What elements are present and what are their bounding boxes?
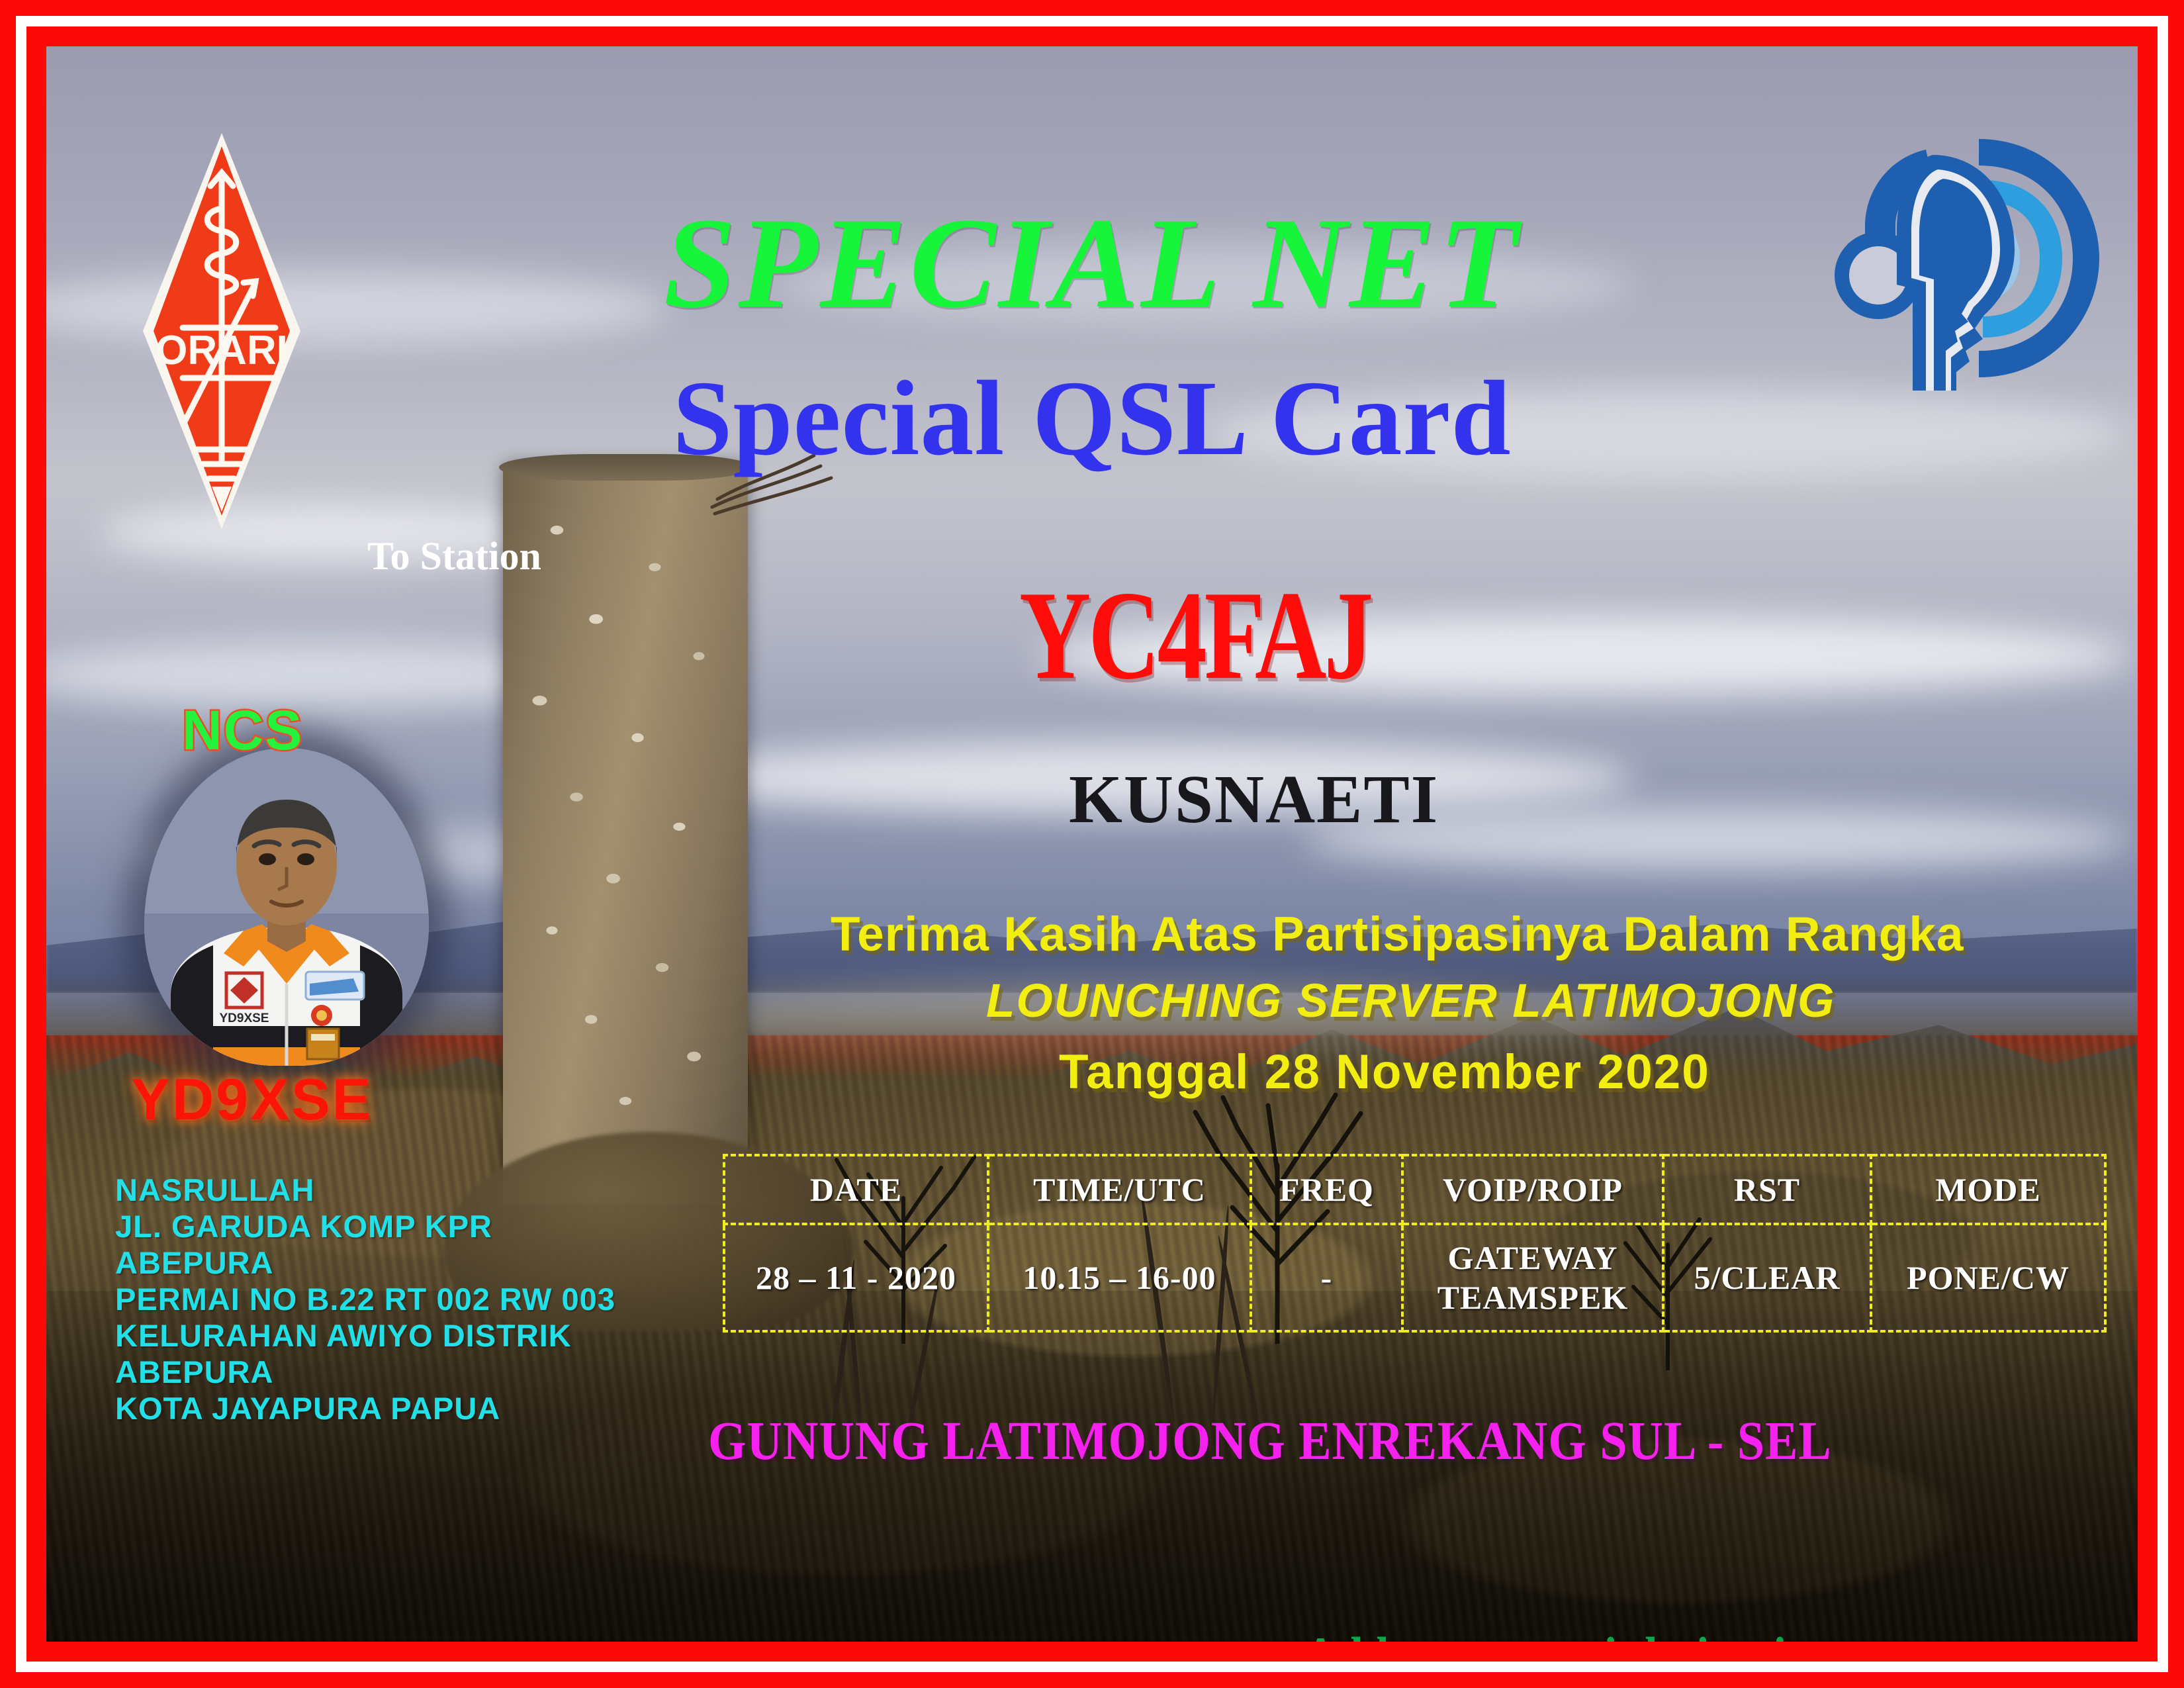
thanks-line-3: Tanggal 28 November 2020 <box>1059 1045 1710 1100</box>
cell-rst: 5/CLEAR <box>1663 1224 1871 1331</box>
operator-name: KUSNAETI <box>1069 760 1439 839</box>
thanks-line-1: Terima Kasih Atas Partisipasinya Dalam R… <box>831 907 1964 962</box>
address-line: KOTA JAYAPURA PAPUA <box>115 1390 615 1427</box>
ncs-label: NCS <box>182 698 303 763</box>
motto-text: "AMATIR RADIO ADALAH PROGRESIVE" <box>126 1628 1087 1642</box>
ncs-callsign: YD9XSE <box>131 1066 373 1133</box>
cell-mode: PONE/CW <box>1871 1224 2105 1331</box>
address-line: JL. GARUDA KOMP KPR <box>115 1208 615 1244</box>
column-header-date: DATE <box>724 1155 988 1224</box>
thanks-line-2: LOUNCHING SERVER LATIMOJONG <box>986 974 1835 1028</box>
station-callsign: YC4FAJ <box>1019 563 1371 708</box>
column-header-freq: FREQ <box>1251 1155 1402 1224</box>
column-header-rst: RST <box>1663 1155 1871 1224</box>
cell-time: 10.15 – 16-00 <box>988 1224 1251 1331</box>
table-row: 28 – 11 - 2020 10.15 – 16-00 - GATEWAY T… <box>724 1224 2105 1331</box>
location-line: GUNUNG LATIMOJONG ENREKANG SUL - SEL <box>708 1410 1832 1473</box>
column-header-time: TIME/UTC <box>988 1155 1251 1224</box>
cell-voip: GATEWAY TEAMSPEK <box>1402 1224 1663 1331</box>
address-line: PERMAI NO B.22 RT 002 RW 003 <box>115 1281 615 1317</box>
address-line: KELURAHAN AWIYO DISTRIK <box>115 1317 615 1354</box>
to-station-label: To Station <box>367 534 541 579</box>
avatar: YD9XSE <box>144 748 429 1066</box>
qsl-card: ORARI <box>0 0 2184 1688</box>
table-header-row: DATE TIME/UTC FREQ VOIP/ROIP RST MODE <box>724 1155 2105 1224</box>
address-line: NASRULLAH <box>115 1172 615 1208</box>
qso-log-table: DATE TIME/UTC FREQ VOIP/ROIP RST MODE 28… <box>723 1154 2107 1333</box>
column-header-mode: MODE <box>1871 1155 2105 1224</box>
address-line: ABEPURA <box>115 1354 615 1390</box>
cell-freq: - <box>1251 1224 1402 1331</box>
column-header-voip: VOIP/ROIP <box>1402 1155 1663 1224</box>
card-photo-area: ORARI <box>46 46 2138 1642</box>
address-line: ABEPURA <box>115 1244 615 1281</box>
cell-date: 28 – 11 - 2020 <box>724 1224 988 1331</box>
page-title: SPECIAL NET <box>46 189 2138 338</box>
ncs-operator-photo: YD9XSE <box>144 748 429 1066</box>
card-subtitle: Special QSL Card <box>46 357 2138 481</box>
web-address: Address : amatir.latimojong.com <box>1304 1626 1952 1642</box>
ncs-address-block: NASRULLAH JL. GARUDA KOMP KPR ABEPURA PE… <box>115 1172 615 1427</box>
svg-text:YD9XSE: YD9XSE <box>220 1011 269 1025</box>
